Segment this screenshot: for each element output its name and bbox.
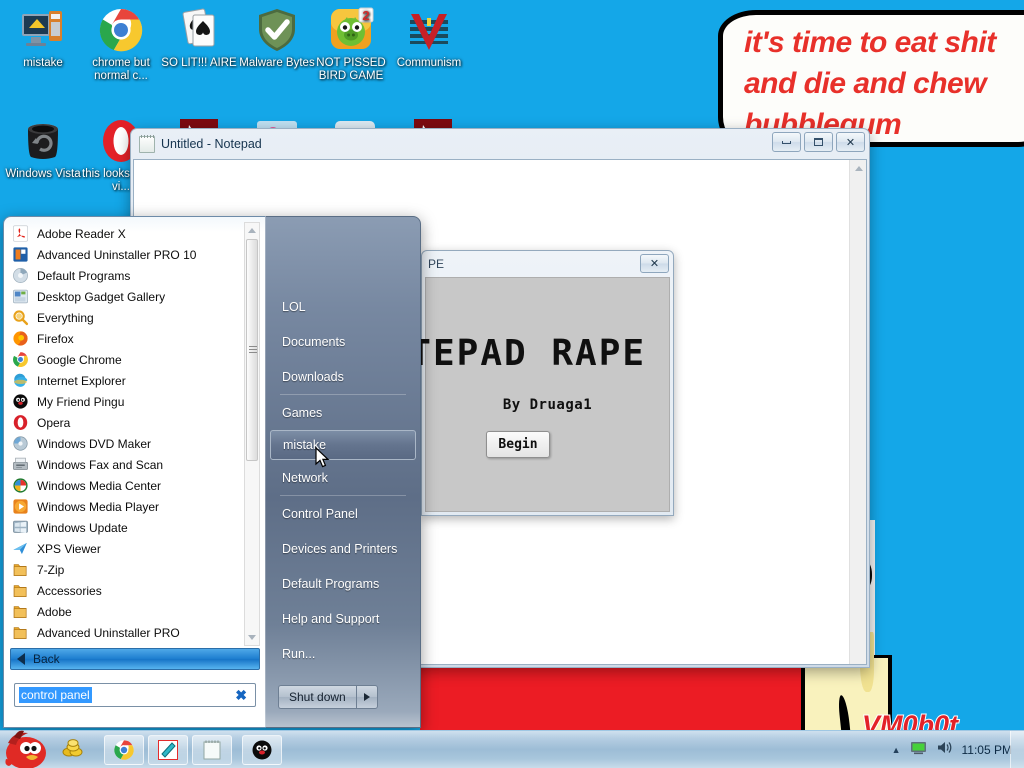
gadget-gallery-icon	[12, 288, 29, 305]
start-menu-program-label: Windows Update	[37, 521, 128, 535]
start-menu-program-label: Adobe	[37, 605, 72, 619]
taskbar-buttons	[104, 735, 282, 765]
start-menu-program-item[interactable]: Adobe Reader X	[4, 223, 265, 244]
start-menu-program-label: Advanced Uninstaller PRO 10	[37, 248, 196, 262]
gold-coins-icon[interactable]	[62, 737, 84, 764]
dvd-maker-icon	[12, 435, 29, 452]
start-menu-place-label: Network	[282, 471, 328, 485]
start-menu-program-label: Google Chrome	[37, 353, 122, 367]
desktop-icon-label: Malware Bytes	[238, 57, 316, 70]
notepad-title: Untitled - Notepad	[161, 137, 262, 151]
bad-piggies-icon: 2	[327, 6, 375, 54]
taskbar-clock[interactable]: 11:05 PM	[962, 743, 1012, 757]
desktop-icon-label: Windows Vista	[4, 168, 82, 181]
start-menu-program-item[interactable]: 7-Zip	[4, 559, 265, 580]
desktop-icon-label: SO LIT!!! AIRE	[160, 57, 238, 70]
xps-viewer-icon	[12, 540, 29, 557]
start-menu-program-item[interactable]: Windows Media Center	[4, 475, 265, 496]
start-menu-program-item[interactable]: Windows Fax and Scan	[4, 454, 265, 475]
media-player-icon	[12, 498, 29, 515]
back-button-label: Back	[33, 652, 60, 666]
start-menu-program-item[interactable]: Windows Update	[4, 517, 265, 538]
start-menu-place-item[interactable]: Help and Support	[266, 601, 420, 636]
start-button[interactable]	[2, 729, 54, 768]
start-menu-program-label: 7-Zip	[37, 563, 64, 577]
start-menu-place-label: Control Panel	[282, 507, 358, 521]
maximize-button[interactable]	[804, 132, 833, 152]
start-menu-program-label: Firefox	[37, 332, 74, 346]
shield-check-icon	[253, 6, 301, 54]
chevron-up-icon	[248, 228, 256, 233]
desktop-icon-communism[interactable]: Communism	[390, 6, 468, 70]
media-center-icon	[19, 6, 67, 54]
chrome-icon	[97, 6, 145, 54]
start-menu-program-item[interactable]: Internet Explorer	[4, 370, 265, 391]
back-button[interactable]: Back	[10, 648, 260, 670]
start-menu-program-label: Advanced Uninstaller PRO	[37, 626, 180, 640]
start-menu-place-item[interactable]: Network	[266, 460, 420, 495]
notepad-window-buttons: ✕	[772, 132, 865, 152]
folder-icon	[12, 582, 29, 599]
start-menu-place-item[interactable]: Control Panel	[266, 496, 420, 531]
folder-icon	[12, 603, 29, 620]
adobe-reader-icon	[12, 225, 29, 242]
start-menu-program-item[interactable]: Accessories	[4, 580, 265, 601]
start-menu-place-item[interactable]: Default Programs	[266, 566, 420, 601]
show-hidden-icons-button[interactable]: ▲	[892, 745, 901, 755]
start-menu-place-item[interactable]: LOL	[266, 289, 420, 324]
recycle-bin-icon	[19, 117, 67, 165]
start-menu-program-item[interactable]: Advanced Uninstaller PRO	[4, 622, 265, 643]
start-menu-program-label: Windows Media Player	[37, 500, 159, 514]
desktop-screen: it's time to eat shit and die and chew b…	[0, 0, 1024, 768]
search-input-value: control panel	[19, 687, 92, 703]
desktop-icon-bad-piggies[interactable]: 2 NOT PISSED BIRD GAME	[312, 6, 390, 83]
speech-bubble-line-2: and die and chew	[744, 63, 1024, 104]
start-menu-program-item[interactable]: Windows DVD Maker	[4, 433, 265, 454]
start-menu-place-item[interactable]: Run...	[266, 636, 420, 671]
dialog-close-button[interactable]: ✕	[640, 254, 669, 273]
start-menu-program-label: XPS Viewer	[37, 542, 101, 556]
quick-launch	[62, 737, 84, 764]
taskbar: ▲ 11:05 PM	[0, 730, 1024, 768]
uninstaller-icon	[12, 246, 29, 263]
search-input[interactable]: control panel ✖	[14, 683, 256, 707]
chevron-right-icon	[364, 693, 370, 701]
start-menu-program-label: Default Programs	[37, 269, 130, 283]
start-menu-program-label: Everything	[37, 311, 94, 325]
default-programs-icon	[12, 267, 29, 284]
start-menu-program-item[interactable]: Advanced Uninstaller PRO 10	[4, 244, 265, 265]
start-menu-program-label: Opera	[37, 416, 70, 430]
desktop-icon-mistake[interactable]: mistake	[4, 6, 82, 70]
everything-search-icon	[12, 309, 29, 326]
folder-icon	[12, 624, 29, 641]
start-menu-scrollbar[interactable]	[244, 222, 260, 646]
start-menu-program-label: Windows Fax and Scan	[37, 458, 163, 472]
start-menu-place-item[interactable]: Devices and Printers	[266, 531, 420, 566]
start-menu-place-label: Devices and Printers	[282, 542, 397, 556]
shutdown-control[interactable]: Shut down	[278, 685, 378, 709]
desktop-icon-label: mistake	[4, 57, 82, 70]
notepad-taskbar-button[interactable]	[192, 735, 232, 765]
start-menu-program-list[interactable]: Adobe Reader XAdvanced Uninstaller PRO 1…	[4, 223, 265, 643]
system-tray: ▲ 11:05 PM	[892, 731, 1020, 768]
desktop-icon-label: Communism	[390, 57, 468, 70]
desktop-icon-chrome[interactable]: chrome but normal c...	[82, 6, 160, 83]
shutdown-button[interactable]: Shut down	[278, 685, 356, 709]
start-menu-program-label: Windows DVD Maker	[37, 437, 151, 451]
start-menu-program-item[interactable]: XPS Viewer	[4, 538, 265, 559]
desktop-icon-malwarebytes[interactable]: Malware Bytes	[238, 6, 316, 70]
chrome-icon	[12, 351, 29, 368]
start-menu-place-label: LOL	[282, 300, 306, 314]
minimize-button[interactable]	[772, 132, 801, 152]
start-menu-program-label: Internet Explorer	[37, 374, 126, 388]
firefox-icon	[12, 330, 29, 347]
start-menu-places-panel: LOLDocumentsDownloadsGamesmistakeNetwork…	[265, 216, 421, 728]
desktop-icon-solitaire[interactable]: SO LIT!!! AIRE	[160, 6, 238, 70]
start-menu-program-label: Accessories	[37, 584, 102, 598]
start-menu-program-label: Windows Media Center	[37, 479, 161, 493]
speech-bubble-line-1: it's time to eat shit	[744, 22, 1024, 63]
scroll-down-button[interactable]	[245, 630, 259, 645]
pingu-taskbar-button[interactable]	[242, 735, 282, 765]
start-menu-program-item[interactable]: Opera	[4, 412, 265, 433]
pingu-icon	[12, 393, 29, 410]
media-center-icon	[12, 477, 29, 494]
scroll-up-button[interactable]	[245, 223, 259, 238]
notepad-rape-taskbar-button[interactable]	[148, 735, 188, 765]
desktop-icon-label: chrome but normal c...	[82, 57, 160, 83]
start-menu-place-label: Help and Support	[282, 612, 379, 626]
start-menu-program-item[interactable]: Adobe	[4, 601, 265, 622]
start-menu-program-item[interactable]: Everything	[4, 307, 265, 328]
start-menu-program-item[interactable]: Windows Media Player	[4, 496, 265, 517]
clear-search-icon[interactable]: ✖	[235, 687, 251, 704]
scrollbar-grip	[249, 346, 257, 353]
chevron-up-icon	[855, 166, 863, 171]
windows-update-icon	[12, 519, 29, 536]
start-menu[interactable]: Adobe Reader XAdvanced Uninstaller PRO 1…	[3, 216, 421, 728]
start-menu-place-item[interactable]: mistake	[270, 430, 416, 460]
communism-flag-icon	[405, 6, 453, 54]
close-icon: ✕	[846, 136, 855, 149]
svg-text:2: 2	[362, 8, 369, 23]
start-menu-program-label: Desktop Gadget Gallery	[37, 290, 165, 304]
network-icon[interactable]	[910, 740, 927, 760]
start-menu-place-label: Default Programs	[282, 577, 379, 591]
start-menu-place-label: Downloads	[282, 370, 344, 384]
start-menu-programs-panel: Adobe Reader XAdvanced Uninstaller PRO 1…	[3, 216, 265, 728]
mouse-cursor	[315, 447, 331, 469]
scroll-up-button[interactable]	[850, 160, 867, 177]
folder-icon	[12, 561, 29, 578]
show-desktop-button[interactable]	[1010, 731, 1024, 768]
start-menu-place-label: Run...	[282, 647, 315, 661]
desktop-icon-label: NOT PISSED BIRD GAME	[312, 57, 390, 83]
close-icon: ✕	[650, 257, 659, 270]
dialog-body: NOTEPAD RAPE By Druaga1 Begin	[425, 277, 670, 512]
dialog-title: PE	[428, 257, 444, 271]
shutdown-options-button[interactable]	[356, 685, 378, 709]
notepad-vertical-scrollbar[interactable]	[849, 160, 866, 664]
start-menu-place-item[interactable]: Documents	[266, 324, 420, 359]
start-menu-program-item[interactable]: My Friend Pingu	[4, 391, 265, 412]
start-menu-program-label: My Friend Pingu	[37, 395, 124, 409]
start-menu-program-item[interactable]: Google Chrome	[4, 349, 265, 370]
scrollbar-thumb[interactable]	[246, 239, 258, 461]
solitaire-icon	[175, 6, 223, 54]
dialog-author: By Druaga1	[426, 397, 669, 413]
speech-bubble-text: it's time to eat shit and die and chew b…	[744, 22, 1024, 145]
chrome-taskbar-button[interactable]	[104, 735, 144, 765]
notepad-titlebar[interactable]: Untitled - Notepad ✕	[131, 129, 869, 159]
dialog-titlebar[interactable]: PE ✕	[422, 251, 673, 277]
volume-icon[interactable]	[936, 740, 953, 760]
start-menu-program-item[interactable]: Firefox	[4, 328, 265, 349]
start-menu-program-item[interactable]: Desktop Gadget Gallery	[4, 286, 265, 307]
internet-explorer-icon	[12, 372, 29, 389]
notepad-rape-dialog[interactable]: PE ✕ NOTEPAD RAPE By Druaga1 Begin	[421, 250, 674, 516]
back-arrow-icon	[17, 653, 25, 665]
desktop-icon-windows-vista[interactable]: Windows Vista	[4, 117, 82, 181]
opera-icon	[12, 414, 29, 431]
start-menu-places-list[interactable]: LOLDocumentsDownloadsGamesmistakeNetwork…	[266, 289, 420, 671]
begin-button[interactable]: Begin	[486, 431, 550, 458]
start-menu-place-item[interactable]: Downloads	[266, 359, 420, 394]
notepad-icon	[139, 136, 155, 153]
start-menu-program-item[interactable]: Default Programs	[4, 265, 265, 286]
start-menu-place-item[interactable]: Games	[266, 395, 420, 430]
chevron-down-icon	[248, 635, 256, 640]
close-button[interactable]: ✕	[836, 132, 865, 152]
start-menu-place-label: Documents	[282, 335, 345, 349]
start-menu-place-label: Games	[282, 406, 322, 420]
start-menu-program-label: Adobe Reader X	[37, 227, 126, 241]
fax-scan-icon	[12, 456, 29, 473]
